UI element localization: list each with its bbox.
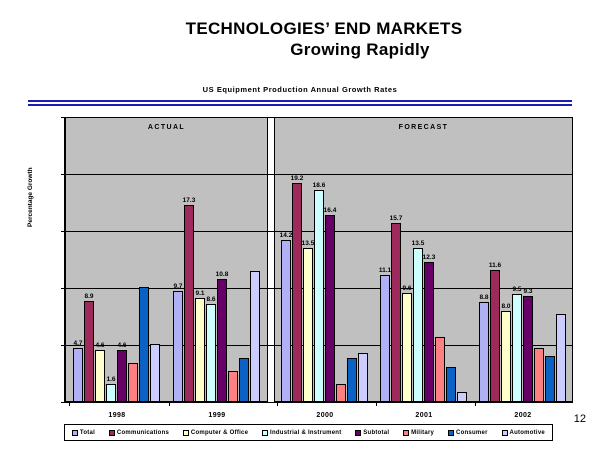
bar-group: 4.78.94.61.64.61998 (73, 117, 161, 402)
bar-group: 11.115.79.613.512.32001 (380, 117, 468, 402)
bar-value-label: 18.6 (305, 182, 333, 189)
bar-value-label: 16.4 (316, 207, 344, 214)
chart-bar (106, 384, 116, 402)
legend-item[interactable]: Military (403, 430, 434, 436)
x-axis-year-label: 1999 (187, 412, 247, 419)
legend-item-label: Consumer (456, 430, 488, 436)
legend-item[interactable]: Computer & Office (183, 430, 248, 436)
chart-bar (534, 348, 544, 402)
legend-item[interactable]: Subtotal (355, 430, 389, 436)
bar-value-label: 12.3 (415, 254, 443, 261)
chart-bar (402, 293, 412, 402)
chart-bar (556, 314, 566, 402)
x-axis-year-label: 2001 (394, 412, 454, 419)
y-axis-tick-mark (61, 231, 65, 232)
chart-bar (358, 353, 368, 402)
chart-bar (228, 371, 238, 402)
y-axis-tick-mark (61, 288, 65, 289)
legend-swatch-icon (262, 430, 268, 436)
chart-bar (424, 262, 434, 402)
chart-bar (446, 367, 456, 402)
legend-swatch-icon (448, 430, 454, 436)
chart-bar (435, 337, 445, 402)
legend-item[interactable]: Consumer (448, 430, 488, 436)
legend-swatch-icon (72, 430, 78, 436)
chart-bar (173, 291, 183, 402)
chart-bar (128, 363, 138, 402)
bar-value-label: 10.8 (208, 271, 236, 278)
chart-bar (84, 301, 94, 402)
chart-bar (479, 302, 489, 402)
chart-bar (206, 304, 216, 402)
x-axis-tick-mark (376, 402, 377, 406)
chart-bar (150, 344, 160, 402)
chart-bar (523, 296, 533, 402)
legend-item[interactable]: Automotive (502, 430, 546, 436)
chart-bar (391, 223, 401, 402)
legend-swatch-icon (355, 430, 361, 436)
bar-value-label: 8.9 (75, 293, 103, 300)
chart-bar (239, 358, 249, 402)
legend-item-label: Communications (117, 430, 169, 436)
x-axis-tick-mark (169, 402, 170, 406)
legend-item-label: Industrial & Instrument (270, 430, 341, 436)
x-axis-year-label: 1998 (87, 412, 147, 419)
chart-bar (512, 294, 522, 402)
chart-bar (325, 215, 335, 402)
chart-bar (545, 356, 555, 402)
chart-bar (347, 358, 357, 402)
bar-value-label: 4.6 (108, 342, 136, 349)
y-axis-title: Percentage Growth (27, 167, 34, 227)
legend-item-label: Computer & Office (191, 430, 248, 436)
chart-subtitle: US Equipment Production Annual Growth Ra… (0, 85, 600, 94)
x-axis-year-label: 2000 (295, 412, 355, 419)
bar-group: 8.811.68.09.59.32002 (479, 117, 567, 402)
chart-bar (303, 248, 313, 402)
chart-bar (336, 384, 346, 402)
chart-bar (292, 183, 302, 402)
y-axis-tick-mark (61, 174, 65, 175)
chart-bar (413, 248, 423, 402)
chart-bar (73, 348, 83, 402)
bar-value-label: 15.7 (382, 215, 410, 222)
bar-group: 14.219.213.518.616.42000 (281, 117, 369, 402)
legend-swatch-icon (109, 430, 115, 436)
legend-item-label: Total (80, 430, 95, 436)
chart-bar (250, 271, 260, 402)
chart-bar (380, 275, 390, 402)
chart-bar (139, 287, 149, 402)
chart-bar (457, 392, 467, 402)
x-axis-year-label: 2002 (493, 412, 553, 419)
x-axis-tick-mark (69, 402, 70, 406)
chart-bar (117, 350, 127, 402)
page-number: 12 (574, 413, 586, 425)
chart-plot-area: ACTUAL FORECAST 0.05.010.015.020.025.0 4… (64, 117, 573, 403)
bar-value-label: 11.6 (481, 262, 509, 269)
x-axis-tick-mark (277, 402, 278, 406)
y-axis-tick-mark (61, 402, 65, 403)
bar-value-label: 13.5 (404, 240, 432, 247)
legend-item-label: Automotive (510, 430, 546, 436)
header-rule-top (28, 100, 572, 102)
legend-swatch-icon (403, 430, 409, 436)
chart-bar (217, 279, 227, 402)
y-axis-tick-mark (61, 117, 65, 118)
legend-item[interactable]: Industrial & Instrument (262, 430, 341, 436)
chart-bar (195, 298, 205, 402)
header-rule-bottom (28, 104, 572, 106)
bar-value-label: 17.3 (175, 197, 203, 204)
legend-swatch-icon (502, 430, 508, 436)
x-axis-tick-mark (475, 402, 476, 406)
legend-item-label: Subtotal (363, 430, 389, 436)
legend-item-label: Military (411, 430, 434, 436)
legend-item[interactable]: Communications (109, 430, 169, 436)
chart-legend: TotalCommunicationsComputer & OfficeIndu… (64, 424, 553, 441)
page-title: TECHNOLOGIES’ END MARKETS (0, 18, 600, 39)
chart-bar (281, 240, 291, 402)
bar-value-label: 9.3 (514, 288, 542, 295)
chart-bar (184, 205, 194, 402)
chart-bar (314, 190, 324, 402)
chart-bar (490, 270, 500, 402)
page-subtitle: Growing Rapidly (0, 39, 600, 60)
legend-swatch-icon (183, 430, 189, 436)
title-block: TECHNOLOGIES’ END MARKETS Growing Rapidl… (0, 18, 600, 60)
legend-item[interactable]: Total (72, 430, 95, 436)
bar-group: 9.717.39.18.610.81999 (173, 117, 261, 402)
chart-bar (501, 311, 511, 402)
